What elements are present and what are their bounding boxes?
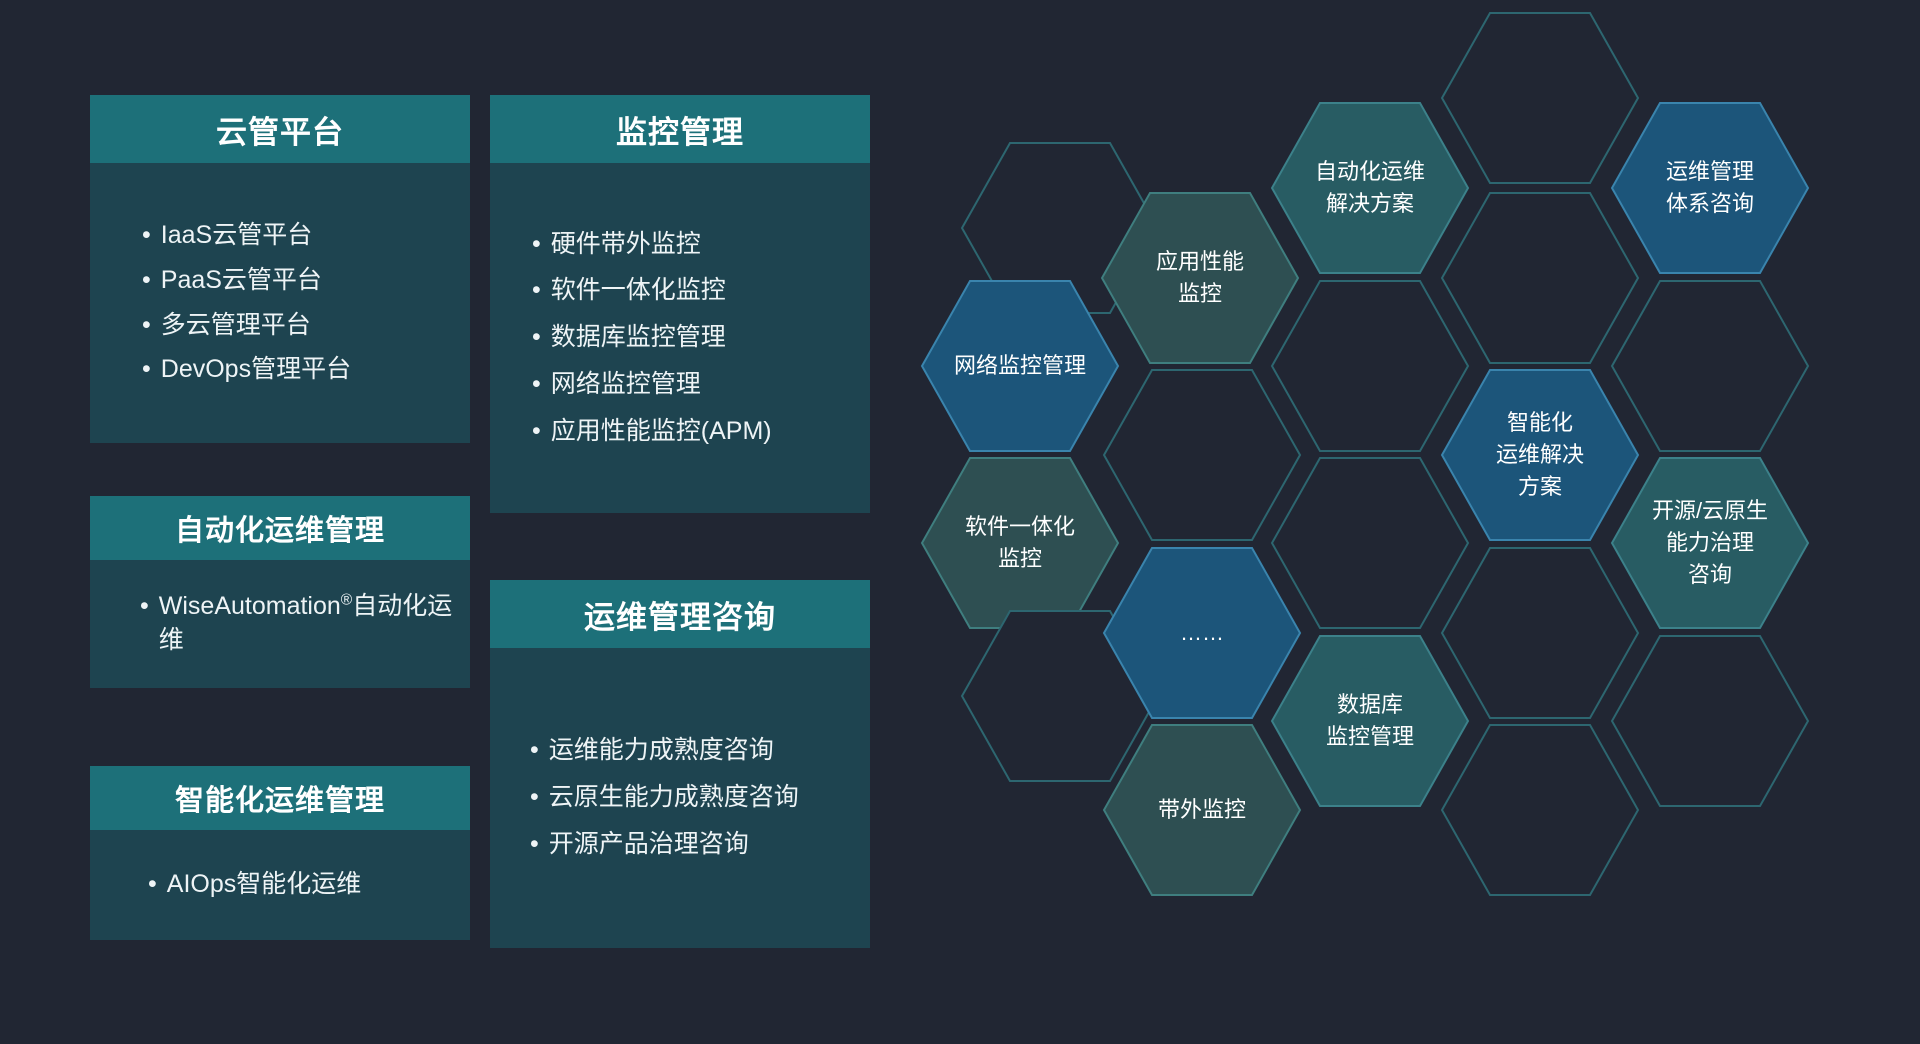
capability-list-item-label: DevOps管理平台 (161, 353, 351, 387)
registered-trademark-icon: ® (341, 592, 352, 609)
capability-card-panel: 云管平台•IaaS云管平台•PaaS云管平台•多云管理平台•DevOps管理平台… (0, 0, 900, 1044)
capability-list-item-label: IaaS云管平台 (161, 219, 312, 253)
hexagon-capability[interactable]: 网络监控管理 (920, 278, 1120, 454)
capability-list-item: •硬件带外监控 (532, 228, 870, 262)
capability-list-item-label: WiseAutomation®自动化运维 (159, 590, 470, 658)
capability-list-item: •运维能力成熟度咨询 (530, 734, 840, 768)
hexagon-capability[interactable]: 开源/云原生 能力治理 咨询 (1610, 455, 1810, 631)
capability-list-item-label: 多云管理平台 (161, 309, 311, 343)
hexagon-shape (1610, 278, 1810, 454)
capability-card-title: 自动化运维管理 (90, 496, 470, 560)
capability-list-item-label: AIOps智能化运维 (167, 868, 361, 902)
capability-list-item: •WiseAutomation®自动化运维 (140, 590, 470, 658)
capability-list-item: •数据库监控管理 (532, 321, 870, 355)
capability-list: •IaaS云管平台•PaaS云管平台•多云管理平台•DevOps管理平台 (142, 208, 470, 398)
product-name: WiseAutomation (159, 592, 341, 620)
bullet-icon: • (142, 219, 151, 253)
capability-list-item: •多云管理平台 (142, 309, 470, 343)
bullet-icon: • (530, 828, 539, 862)
capability-list: •运维能力成熟度咨询•云原生能力成熟度咨询•开源产品治理咨询 (530, 721, 840, 874)
capability-list-item-label: 软件一体化监控 (551, 274, 726, 308)
capability-list-item-label: 应用性能监控(APM) (551, 415, 772, 449)
bullet-icon: • (532, 415, 541, 449)
capability-card: 运维管理咨询•运维能力成熟度咨询•云原生能力成熟度咨询•开源产品治理咨询 (490, 580, 870, 948)
capability-list-item: •IaaS云管平台 (142, 219, 470, 253)
capability-card: 自动化运维管理•WiseAutomation®自动化运维 (90, 496, 470, 688)
capability-list-item-label: 数据库监控管理 (551, 321, 726, 355)
capability-card-title: 运维管理咨询 (490, 580, 870, 648)
capability-list-item: •DevOps管理平台 (142, 353, 470, 387)
bullet-icon: • (142, 309, 151, 343)
hexagon-label: 带外监控 (1138, 794, 1266, 826)
capability-list-item-label: PaaS云管平台 (161, 264, 322, 298)
bullet-icon: • (532, 274, 541, 308)
capability-list-item-label: 云原生能力成熟度咨询 (549, 781, 799, 815)
bullet-icon: • (532, 321, 541, 355)
hexagon-label: 应用性能 监控 (1136, 246, 1264, 310)
capability-list-item: •软件一体化监控 (532, 274, 870, 308)
capability-card-body: •IaaS云管平台•PaaS云管平台•多云管理平台•DevOps管理平台 (90, 163, 470, 443)
bullet-icon: • (532, 368, 541, 402)
hexagon-empty (1610, 633, 1810, 809)
capability-list-item: •网络监控管理 (532, 368, 870, 402)
bullet-icon: • (530, 781, 539, 815)
capability-card-title: 智能化运维管理 (90, 766, 470, 830)
capability-list-item-label: 运维能力成熟度咨询 (549, 734, 774, 768)
capability-list-item-label: 硬件带外监控 (551, 228, 701, 262)
capability-list-item-label: 开源产品治理咨询 (549, 828, 749, 862)
hexagon-label: 智能化 运维解决 方案 (1476, 407, 1604, 503)
hexagon-label: 软件一体化 监控 (945, 511, 1095, 575)
hexagon-empty (1610, 278, 1810, 454)
bullet-icon: • (140, 590, 149, 624)
capability-list-item-label: 网络监控管理 (551, 368, 701, 402)
bullet-icon: • (530, 734, 539, 768)
capability-list-item: •应用性能监控(APM) (532, 415, 870, 449)
capability-list: •WiseAutomation®自动化运维 (140, 590, 470, 658)
hexagon-shape (1610, 633, 1810, 809)
capability-list: •AIOps智能化运维 (148, 868, 470, 902)
capability-card: 智能化运维管理•AIOps智能化运维 (90, 766, 470, 940)
bullet-icon: • (148, 868, 157, 902)
capability-card: 监控管理•硬件带外监控•软件一体化监控•数据库监控管理•网络监控管理•应用性能监… (490, 95, 870, 513)
hexagon-capability[interactable]: 运维管理 体系咨询 (1610, 100, 1810, 276)
hexagon-label: …… (1160, 617, 1244, 649)
capability-list-item: •AIOps智能化运维 (148, 868, 470, 902)
bullet-icon: • (142, 264, 151, 298)
hexagon-label: 数据库 监控管理 (1306, 689, 1434, 753)
capability-card: 云管平台•IaaS云管平台•PaaS云管平台•多云管理平台•DevOps管理平台 (90, 95, 470, 443)
capability-list-item: •PaaS云管平台 (142, 264, 470, 298)
capability-card-body: •运维能力成熟度咨询•云原生能力成熟度咨询•开源产品治理咨询 (490, 648, 870, 948)
hexagon-label: 开源/云原生 能力治理 咨询 (1632, 495, 1788, 591)
capability-card-body: •硬件带外监控•软件一体化监控•数据库监控管理•网络监控管理•应用性能监控(AP… (490, 163, 870, 513)
capability-list-item: •云原生能力成熟度咨询 (530, 781, 840, 815)
capability-card-body: •WiseAutomation®自动化运维 (90, 560, 470, 688)
bullet-icon: • (532, 228, 541, 262)
capability-card-title: 监控管理 (490, 95, 870, 163)
hexagon-capability-grid: 网络监控管理软件一体化 监控应用性能 监控……带外监控自动化运维 解决方案数据库… (900, 0, 1920, 1044)
bullet-icon: • (142, 353, 151, 387)
hexagon-label: 运维管理 体系咨询 (1646, 156, 1774, 220)
hexagon-label: 自动化运维 解决方案 (1295, 156, 1445, 220)
capability-list: •硬件带外监控•软件一体化监控•数据库监控管理•网络监控管理•应用性能监控(AP… (532, 215, 870, 462)
capability-card-body: •AIOps智能化运维 (90, 830, 470, 940)
hexagon-capability[interactable]: 软件一体化 监控 (920, 455, 1120, 631)
capability-list-item: •开源产品治理咨询 (530, 828, 840, 862)
hexagon-label: 网络监控管理 (934, 350, 1106, 382)
capability-card-title: 云管平台 (90, 95, 470, 163)
